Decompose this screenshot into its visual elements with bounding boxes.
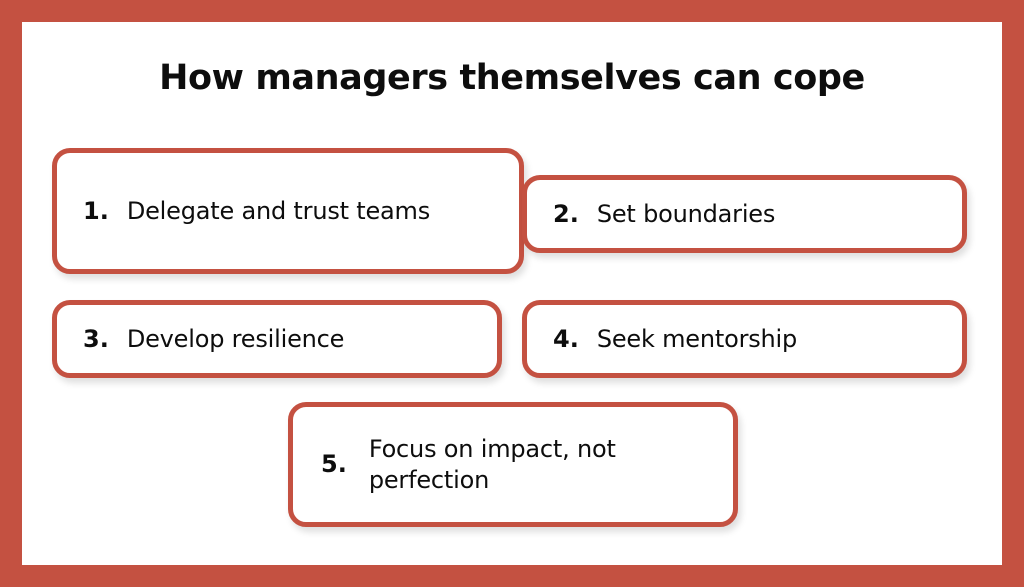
list-item[interactable]: 1. Delegate and trust teams bbox=[52, 148, 524, 274]
list-item-number: 2. bbox=[553, 201, 579, 227]
list-item-label: Delegate and trust teams bbox=[127, 196, 507, 227]
list-item-number: 1. bbox=[83, 198, 109, 224]
list-item-number: 5. bbox=[321, 451, 347, 477]
slide-frame: How managers themselves can cope 1. Dele… bbox=[0, 0, 1024, 587]
page-title: How managers themselves can cope bbox=[22, 58, 1002, 98]
list-item-label: Develop resilience bbox=[127, 324, 485, 355]
list-item-label: Focus on impact, not perfection bbox=[369, 434, 679, 495]
list-item[interactable]: 2. Set boundaries bbox=[522, 175, 967, 253]
list-item-number: 4. bbox=[553, 326, 579, 352]
list-item[interactable]: 4. Seek mentorship bbox=[522, 300, 967, 378]
list-item[interactable]: 5. Focus on impact, not perfection bbox=[288, 402, 738, 527]
list-item-label: Seek mentorship bbox=[597, 324, 950, 355]
slide-content: How managers themselves can cope 1. Dele… bbox=[22, 22, 1002, 565]
list-item-label: Set boundaries bbox=[597, 199, 950, 230]
list-item-number: 3. bbox=[83, 326, 109, 352]
list-item[interactable]: 3. Develop resilience bbox=[52, 300, 502, 378]
